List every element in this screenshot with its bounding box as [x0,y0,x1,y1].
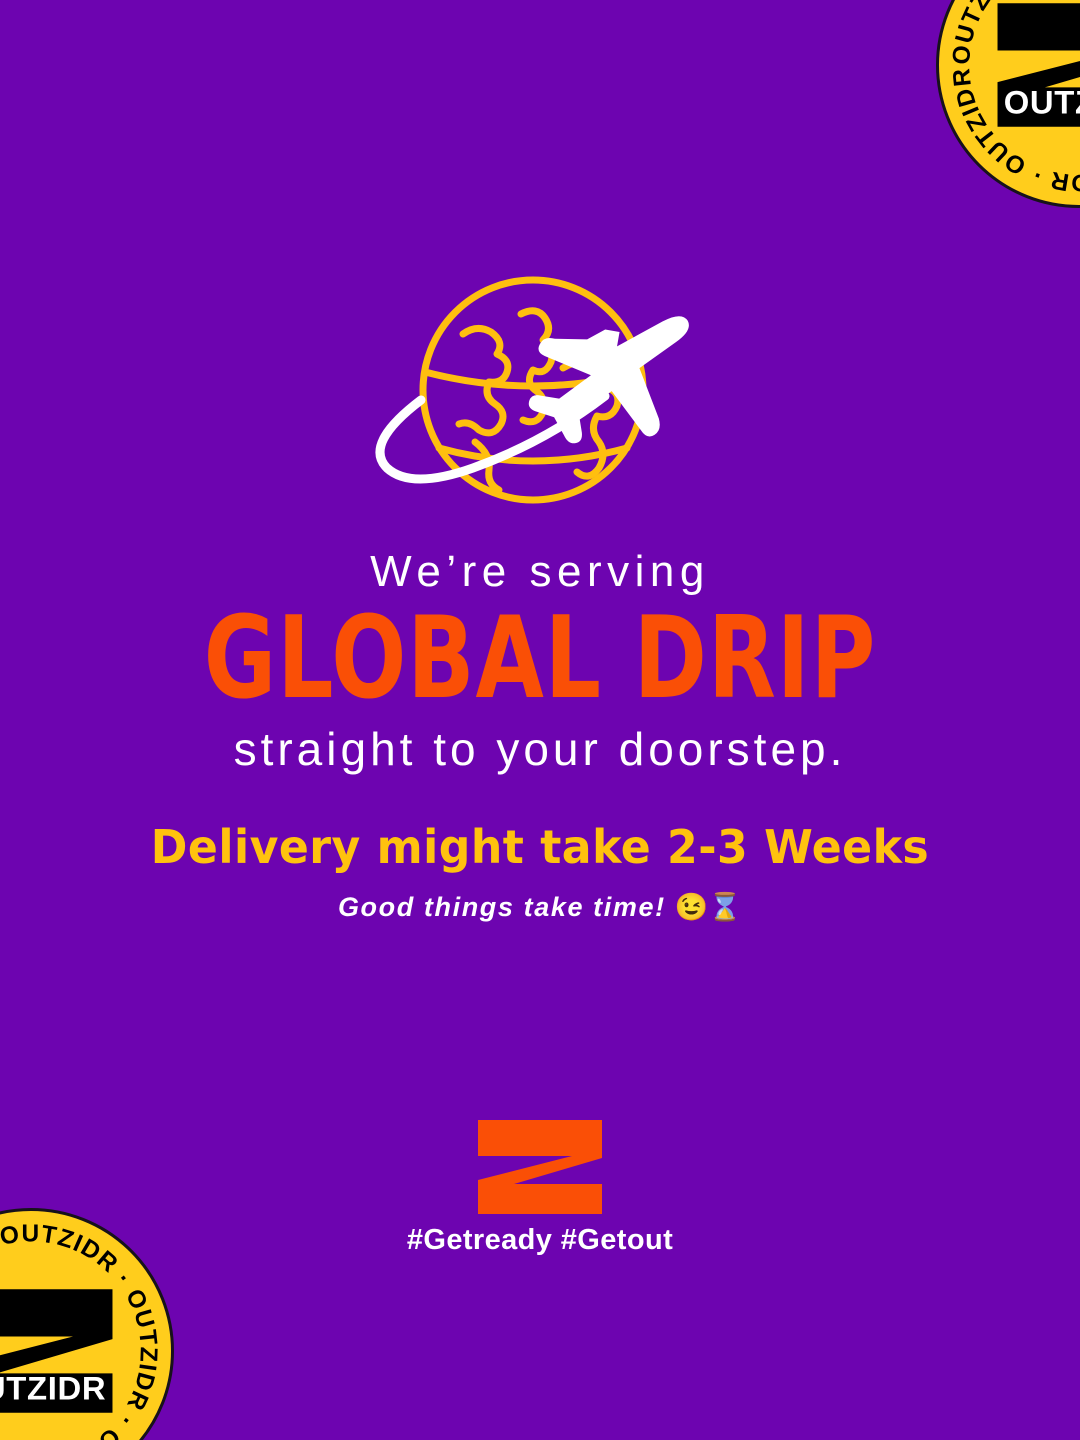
globe-with-airplane-illustration [355,272,715,517]
promo-poster: We’re serving GLOBAL DRIP straight to yo… [0,0,1080,1440]
badge-bottom-left-core-logomark: OUTZIDR [0,1287,118,1416]
delivery-subline-text: Good things take time! [338,892,666,922]
badge-top-right: OUTZIDR · OUTZIDR · OUTZIDR · OUTZIDR · … [936,0,1080,208]
headline-tail: straight to your doorstep. [0,724,1080,775]
hourglass-emoji: ⌛ [708,892,742,922]
headline-block: We’re serving GLOBAL DRIP straight to yo… [0,548,1080,775]
outzidr-z-logomark-icon [476,1118,604,1216]
badge-top-right-core-logomark: OUTZIDR [992,1,1080,130]
winking-face-emoji: 😉 [675,892,709,922]
delivery-notice-block: Delivery might take 2-3 Weeks Good thing… [0,822,1080,923]
headline-main: GLOBAL DRIP [43,602,1037,715]
badge-top-right-core-wordmark: OUTZIDR [1004,84,1080,121]
delivery-subline: Good things take time! 😉⌛ [0,891,1080,923]
badge-bottom-left-core-wordmark: OUTZIDR [0,1370,106,1407]
delivery-headline: Delivery might take 2-3 Weeks [22,822,1059,873]
badge-bottom-left: OUTZIDR · OUTZIDR · OUTZIDR · OUTZIDR · … [0,1208,174,1440]
headline-kicker: We’re serving [0,548,1080,596]
